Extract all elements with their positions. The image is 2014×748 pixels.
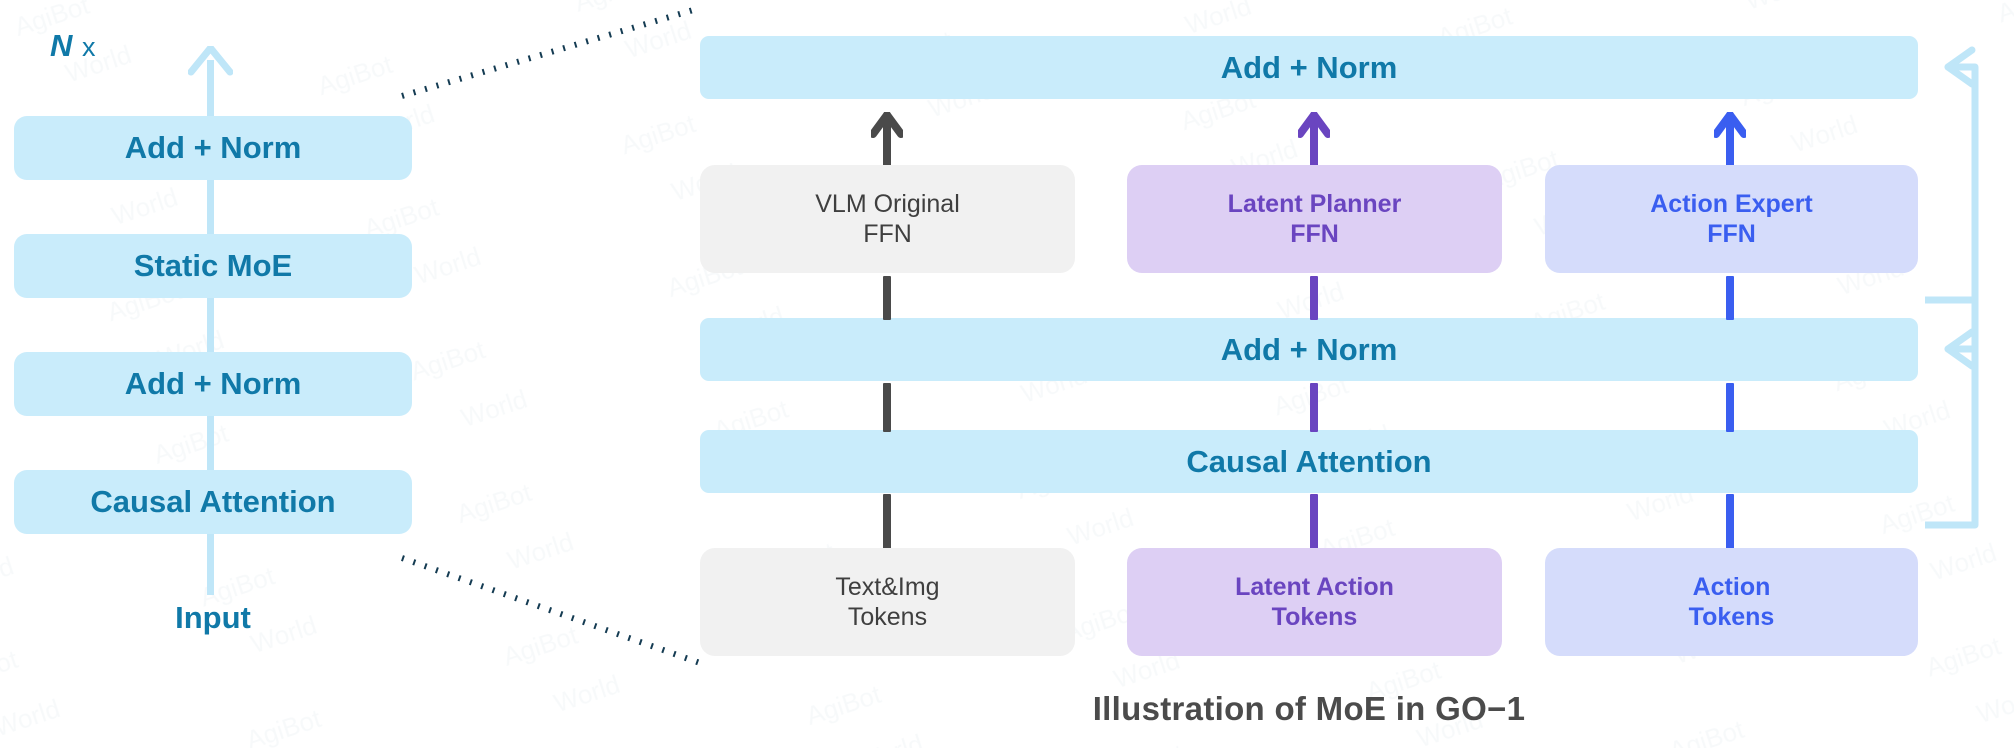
left-block-add-norm-top[interactable]: Add + Norm — [14, 116, 412, 180]
dotted-connector-top — [390, 0, 710, 110]
action-segment-tokens-to-causal — [1726, 494, 1734, 550]
figure-caption: Illustration of MoE in GO−1 — [700, 690, 1918, 728]
ffn-box-action-expert[interactable]: Action Expert FFN — [1545, 165, 1918, 273]
left-block-static-moe[interactable]: Static MoE — [14, 234, 412, 298]
left-block-add-norm-bottom[interactable]: Add + Norm — [14, 352, 412, 416]
action-up-arrow-icon — [1714, 112, 1746, 172]
action-segment-addnorm-to-causal — [1726, 383, 1734, 432]
right-bar-add-norm-top[interactable]: Add + Norm — [700, 36, 1918, 99]
ffn-box-vlm-original[interactable]: VLM Original FFN — [700, 165, 1075, 273]
repeat-count-n: N — [50, 28, 73, 63]
right-bar-add-norm-mid[interactable]: Add + Norm — [700, 318, 1918, 381]
vlm-segment-ffn-to-addnorm — [883, 276, 891, 320]
latent-segment-addnorm-to-causal — [1310, 383, 1318, 432]
token-box-latent-action[interactable]: Latent Action Tokens — [1127, 548, 1502, 656]
dotted-connector-bottom — [390, 548, 710, 673]
repeat-count-x: x — [82, 32, 96, 62]
repeat-count-label: N x — [50, 28, 96, 64]
token-box-action[interactable]: Action Tokens — [1545, 548, 1918, 656]
action-segment-ffn-to-addnorm — [1726, 276, 1734, 320]
vlm-segment-tokens-to-causal — [883, 494, 891, 550]
vlm-up-arrow-icon — [871, 112, 903, 172]
latent-segment-tokens-to-causal — [1310, 494, 1318, 550]
token-box-text-img[interactable]: Text&Img Tokens — [700, 548, 1075, 656]
left-flow-arrow-icon — [188, 46, 233, 80]
figure-canvas: AgiBot World N x Add + Norm Static MoE A… — [0, 0, 2014, 748]
latent-up-arrow-icon — [1298, 112, 1330, 172]
left-block-causal-attention[interactable]: Causal Attention — [14, 470, 412, 534]
input-label: Input — [14, 600, 412, 636]
vlm-segment-addnorm-to-causal — [883, 383, 891, 432]
right-bar-causal-attention[interactable]: Causal Attention — [700, 430, 1918, 493]
latent-segment-ffn-to-addnorm — [1310, 276, 1318, 320]
ffn-box-latent-planner[interactable]: Latent Planner FFN — [1127, 165, 1502, 273]
